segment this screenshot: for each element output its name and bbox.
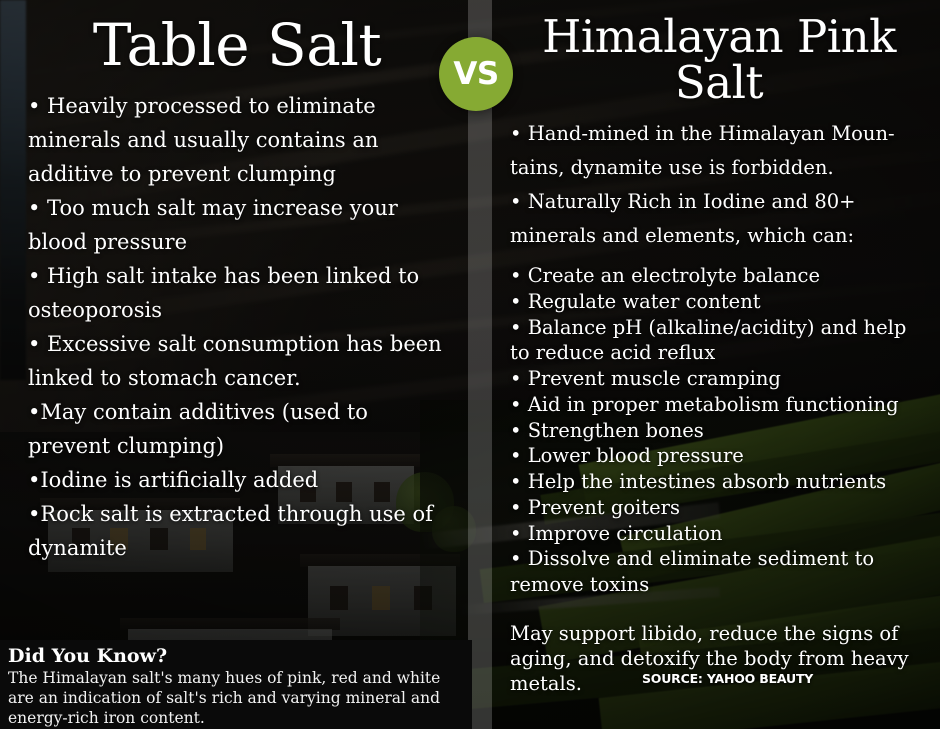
right-column-title: Himalayan Pink Salt	[510, 14, 928, 106]
right-intro-bullet-list: • Hand-mined in the Himalayan Moun-tains…	[510, 117, 928, 254]
list-item: • Naturally Rich in Iodine and 80+ miner…	[510, 185, 928, 253]
list-item: • Heavily processed to eliminate mineral…	[28, 89, 446, 191]
vs-badge-label: VS	[453, 59, 498, 90]
list-item: • Prevent goiters	[510, 495, 928, 521]
list-item: • Regulate water content	[510, 289, 928, 315]
left-column-title: Table Salt	[28, 16, 446, 75]
left-bullet-list: • Heavily processed to eliminate mineral…	[28, 89, 446, 565]
right-column-himalayan-salt: Himalayan Pink Salt • Hand-mined in the …	[492, 0, 940, 697]
right-benefit-bullet-list: • Create an electrolyte balance • Regula…	[510, 263, 928, 598]
right-outro-paragraph: May support libido, reduce the signs of …	[510, 622, 928, 697]
salt-comparison-infographic: Table Salt • Heavily processed to elimin…	[0, 0, 940, 729]
left-column-table-salt: Table Salt • Heavily processed to elimin…	[0, 0, 468, 565]
list-item: • Help the intestines absorb nutrients	[510, 469, 928, 495]
list-item: •May contain additives (used to prevent …	[28, 395, 446, 463]
did-you-know-title: Did You Know?	[8, 646, 462, 668]
list-item: • Lower blood pressure	[510, 443, 928, 469]
list-item: • Create an electrolyte balance	[510, 263, 928, 289]
vs-badge-icon: VS	[439, 37, 513, 111]
content-layer: Table Salt • Heavily processed to elimin…	[0, 0, 940, 729]
list-item: •Rock salt is extracted through use of d…	[28, 497, 446, 565]
list-item: • Aid in proper metabolism functioning	[510, 392, 928, 418]
source-caption: SOURCE: YAHOO BEAUTY	[642, 671, 813, 687]
did-you-know-body: The Himalayan salt's many hues of pink, …	[8, 669, 462, 728]
list-item: •Iodine is artificially added	[28, 463, 446, 497]
list-item: • Balance pH (alkaline/acidity) and help…	[510, 315, 928, 366]
did-you-know-panel: Did You Know? The Himalayan salt's many …	[0, 640, 472, 729]
list-item: • Hand-mined in the Himalayan Moun-tains…	[510, 117, 928, 185]
list-item: • Strengthen bones	[510, 418, 928, 444]
list-item: • Prevent muscle cramping	[510, 366, 928, 392]
list-item: • Dissolve and eliminate sediment to rem…	[510, 546, 928, 597]
list-item: • Excessive salt consumption has been li…	[28, 327, 446, 395]
list-item: • High salt intake has been linked to os…	[28, 259, 446, 327]
list-item: • Too much salt may increase your blood …	[28, 191, 446, 259]
list-item: • Improve circulation	[510, 521, 928, 547]
